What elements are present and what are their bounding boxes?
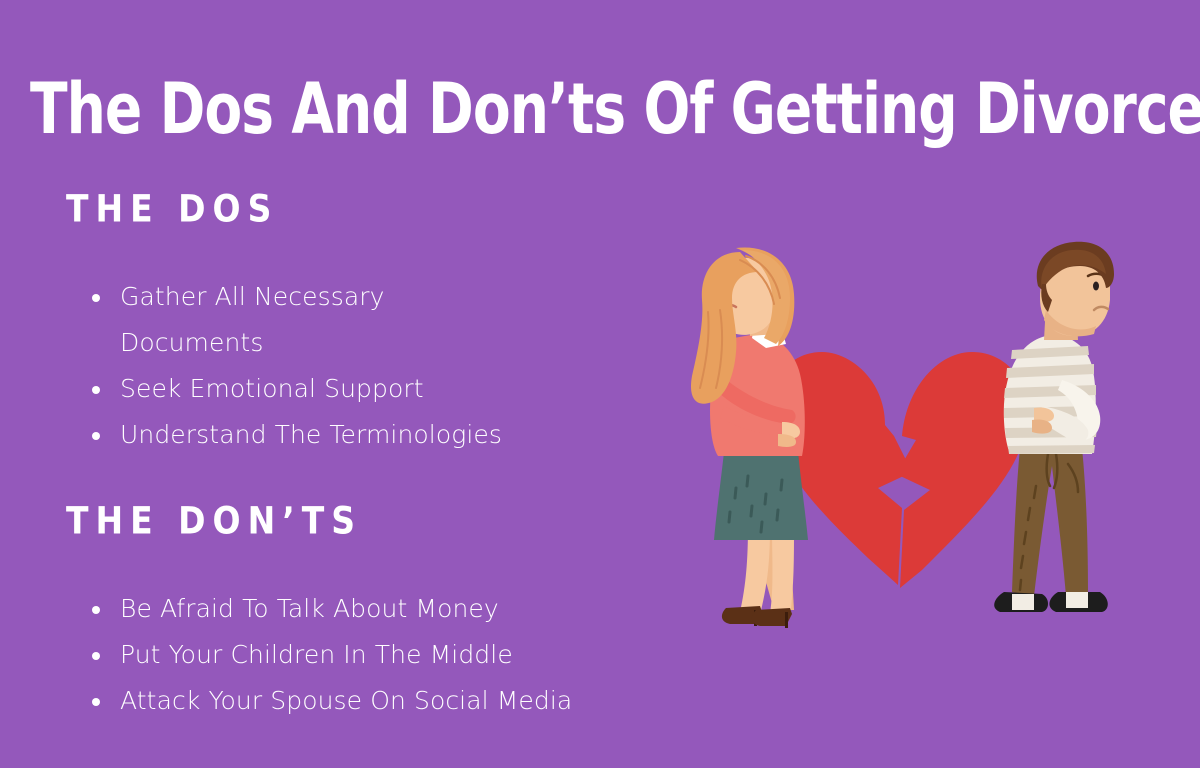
list-item: Attack Your Spouse On Social Media [78, 678, 718, 724]
dos-list: Gather All Necessary Documents Seek Emot… [78, 274, 508, 458]
list-item: Gather All Necessary Documents [78, 274, 508, 366]
list-item: Put Your Children In The Middle [78, 632, 718, 678]
couple-with-broken-heart-illustration [690, 240, 1170, 660]
woman-figure [691, 247, 808, 628]
donts-list: Be Afraid To Talk About Money Put Your C… [78, 586, 718, 724]
section-heading-donts: THE DON’TS [66, 499, 362, 543]
poster-canvas: The Dos And Don’ts Of Getting Divorce TH… [0, 0, 1200, 768]
page-title: The Dos And Don’ts Of Getting Divorce [30, 73, 1170, 144]
list-item: Understand The Terminologies [78, 412, 508, 458]
broken-heart-icon [770, 352, 1028, 588]
man-figure [994, 242, 1114, 612]
section-heading-dos: THE DOS [66, 187, 278, 231]
list-item: Seek Emotional Support [78, 366, 508, 412]
list-item: Be Afraid To Talk About Money [78, 586, 718, 632]
